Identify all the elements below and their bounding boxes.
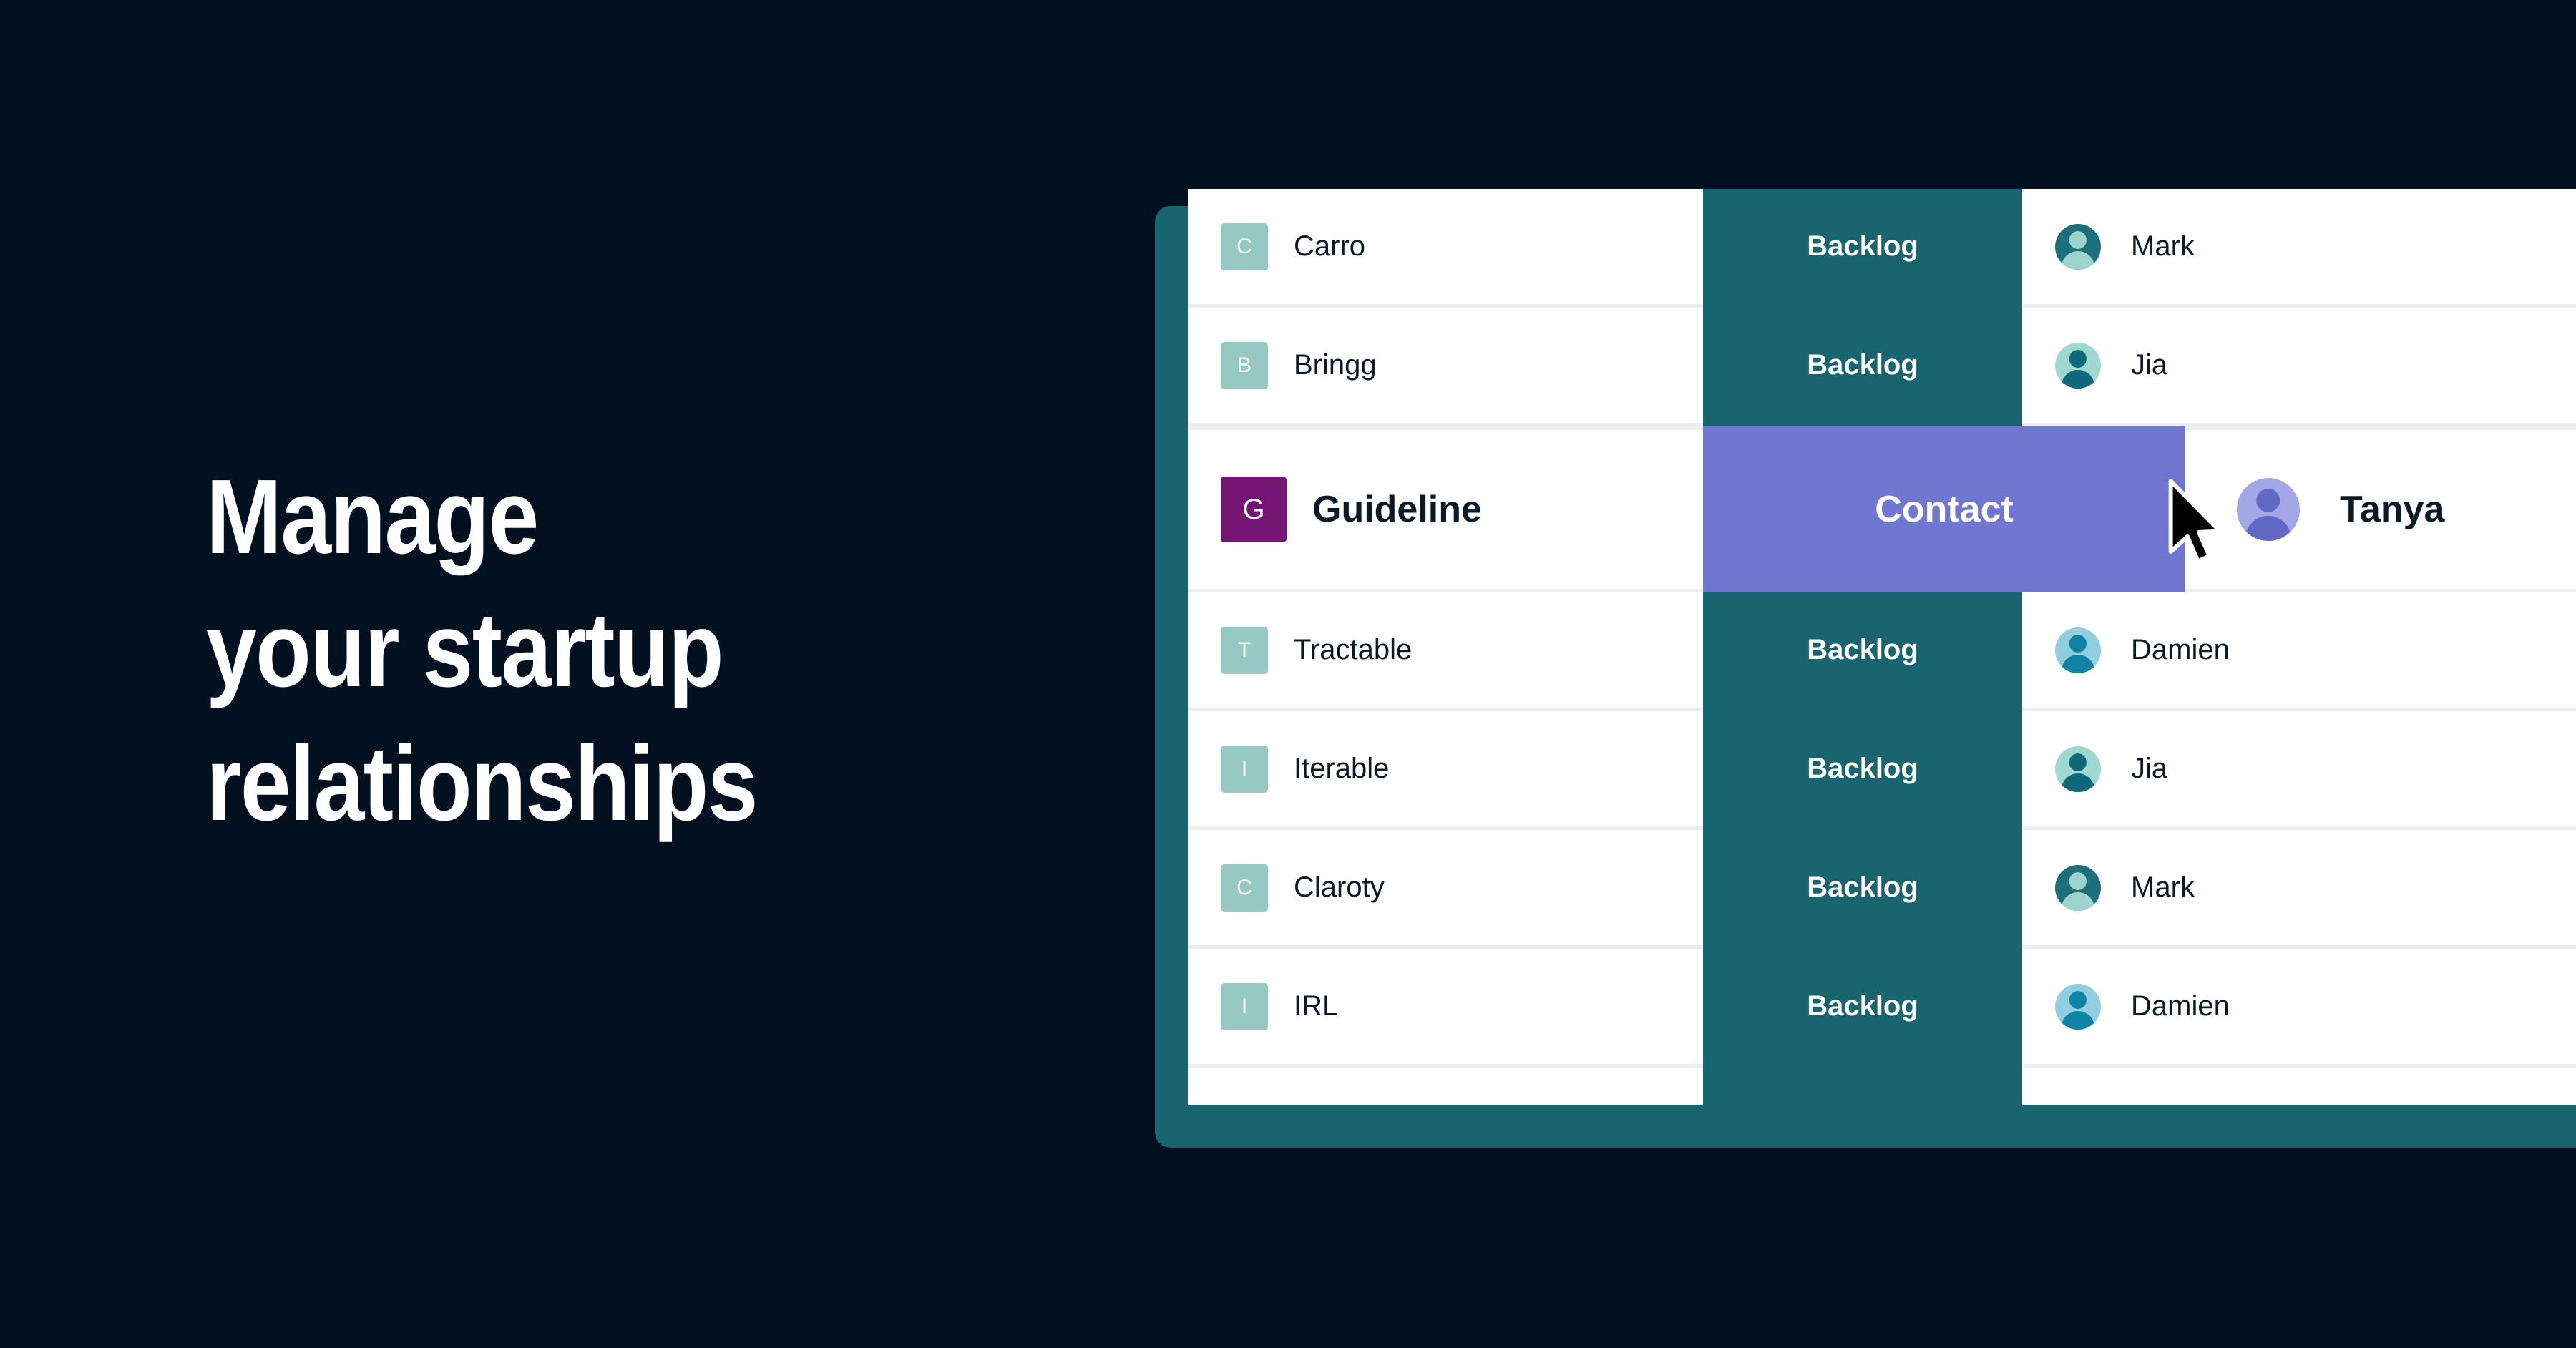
avatar-body (2062, 251, 2094, 270)
company-name: Iterable (1294, 753, 1389, 785)
headline-block: Manage your startup relationships (206, 451, 1029, 851)
company-name: Carro (1294, 230, 1365, 263)
company-name: IRL (1294, 990, 1338, 1022)
owner-name: Jia (2131, 349, 2167, 381)
owner-cell[interactable]: Damien (2022, 592, 2576, 708)
status-badge[interactable]: Contact (1703, 426, 2185, 592)
avatar-head (2069, 231, 2087, 248)
company-avatar-badge: C (1221, 223, 1268, 270)
table-row[interactable]: BBringgBacklogJia (1188, 308, 2576, 426)
person-icon (2055, 627, 2101, 673)
person-icon (2055, 865, 2101, 911)
company-cell[interactable]: TTractable (1188, 592, 1703, 708)
company-avatar-badge: T (1221, 627, 1268, 674)
company-avatar-badge: B (1221, 342, 1268, 389)
owner-cell[interactable] (2022, 1068, 2576, 1105)
avatar-head (2069, 350, 2087, 367)
avatar-head (2069, 991, 2087, 1008)
table-row[interactable]: IIRLBacklogDamien (1188, 949, 2576, 1068)
status-badge[interactable] (1703, 1064, 2022, 1105)
owner-name: Damien (2131, 990, 2230, 1022)
owner-cell[interactable]: Jia (2022, 308, 2576, 423)
company-avatar-badge: I (1221, 746, 1268, 793)
avatar-body (2062, 773, 2094, 792)
company-cell[interactable]: CCarro (1188, 189, 1703, 304)
table-row[interactable]: CCarroBacklogMark (1188, 189, 2576, 308)
status-cell[interactable]: Backlog (1703, 711, 2022, 826)
company-name: Guideline (1312, 488, 1482, 531)
person-icon (2055, 746, 2101, 792)
owner-name: Damien (2131, 634, 2230, 666)
owner-name: Mark (2131, 871, 2195, 904)
person-icon (2237, 478, 2300, 541)
avatar-body (2062, 370, 2094, 389)
person-icon (2055, 224, 2101, 270)
owner-cell[interactable]: Tanya (2185, 430, 2576, 589)
company-cell[interactable]: CClaroty (1188, 830, 1703, 945)
table-card-stack: CCarroBacklogMarkBBringgBacklogJiaGGuide… (1155, 189, 2576, 1148)
owner-cell[interactable]: Damien (2022, 949, 2576, 1064)
status-badge[interactable]: Backlog (1703, 708, 2022, 830)
status-cell[interactable]: Contact (1703, 430, 2185, 589)
status-cell[interactable]: Backlog (1703, 592, 2022, 708)
company-avatar-badge: I (1221, 983, 1268, 1030)
person-icon (2055, 984, 2101, 1030)
company-name: Bringg (1294, 349, 1377, 381)
avatar-body (2245, 516, 2290, 541)
owner-name: Tanya (2340, 488, 2444, 531)
status-cell[interactable]: Backlog (1703, 308, 2022, 423)
status-badge[interactable]: Backlog (1703, 304, 2022, 426)
avatar-head (2069, 753, 2087, 771)
owner-cell[interactable]: Mark (2022, 830, 2576, 945)
headline-line-2: your startup (206, 584, 914, 717)
status-badge[interactable]: Backlog (1703, 826, 2022, 949)
status-badge[interactable]: Backlog (1703, 589, 2022, 711)
headline-line-1: Manage (206, 451, 914, 584)
status-badge[interactable]: Backlog (1703, 189, 2022, 308)
status-cell[interactable]: Backlog (1703, 949, 2022, 1064)
avatar-head (2069, 635, 2087, 652)
headline-line-3: relationships (206, 718, 914, 851)
table-row[interactable]: TTractableBacklogDamien (1188, 592, 2576, 711)
company-cell[interactable]: IIterable (1188, 711, 1703, 826)
avatar-head (2069, 872, 2087, 889)
company-cell[interactable]: BBringg (1188, 308, 1703, 423)
company-avatar-badge: G (1221, 477, 1287, 542)
company-name: Tractable (1294, 634, 1412, 666)
avatar-body (2062, 1011, 2094, 1030)
status-cell[interactable]: Backlog (1703, 830, 2022, 945)
company-cell[interactable] (1188, 1068, 1703, 1105)
owner-name: Mark (2131, 230, 2195, 263)
company-cell[interactable]: GGuideline (1188, 430, 1703, 589)
status-cell[interactable] (1703, 1068, 2022, 1105)
owner-name: Jia (2131, 753, 2167, 785)
status-badge[interactable]: Backlog (1703, 945, 2022, 1068)
avatar-head (2256, 489, 2280, 512)
company-cell[interactable]: IIRL (1188, 949, 1703, 1064)
table-row[interactable] (1188, 1068, 2576, 1105)
avatar-body (2062, 655, 2094, 673)
table-row[interactable]: CClarotyBacklogMark (1188, 830, 2576, 949)
table-row[interactable]: IIterableBacklogJia (1188, 711, 2576, 830)
status-cell[interactable]: Backlog (1703, 189, 2022, 304)
person-icon (2055, 343, 2101, 389)
table-row[interactable]: GGuidelineContactTanya (1188, 426, 2576, 592)
company-avatar-badge: C (1221, 864, 1268, 912)
company-name: Claroty (1294, 871, 1385, 904)
owner-cell[interactable]: Jia (2022, 711, 2576, 826)
company-table: CCarroBacklogMarkBBringgBacklogJiaGGuide… (1188, 189, 2576, 1105)
owner-cell[interactable]: Mark (2022, 189, 2576, 304)
avatar-body (2062, 892, 2094, 911)
